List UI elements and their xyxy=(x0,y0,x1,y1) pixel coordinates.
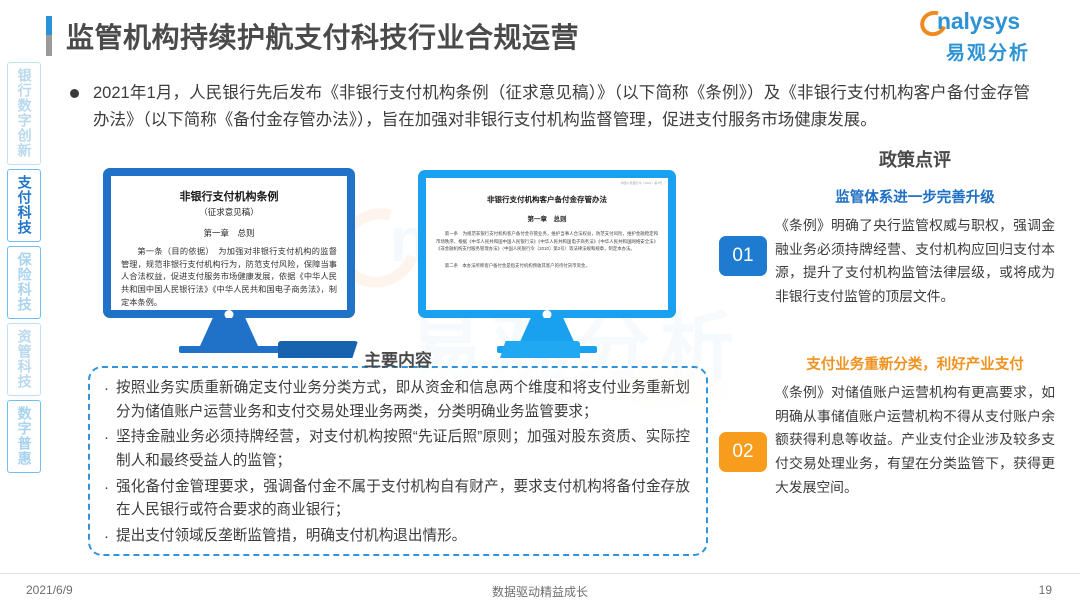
policy-block-body: 《条例》对储值账户运营机构有更高要求，如明确从事储值账户运营机构不得从支付账户余… xyxy=(775,381,1055,500)
title-accent-bar xyxy=(46,16,52,56)
monitor-regulation: 非银行支付机构条例 （征求意见稿） 第一章 总则 第一条（目的依据） 为加强对非… xyxy=(103,168,355,318)
status-badge-01: 01 xyxy=(719,236,767,276)
list-item: · 强化备付金管理要求，强调备付金不属于支付机构自有财产，要求支付机构将备付金存… xyxy=(104,476,690,523)
list-item-text: 提出支付领域反垄断监管措，明确支付机构退出情形。 xyxy=(116,525,466,549)
doc-chapter: 第一章 总则 xyxy=(436,213,658,223)
sidebar-item-digital-inclusive-finance[interactable]: 数字普惠 xyxy=(7,400,41,473)
doc-title: 非银行支付机构客户备付金存管办法 xyxy=(436,194,658,205)
doc-chapter: 第一章 总则 xyxy=(121,227,337,239)
sidebar-item-bank-digital-innovation[interactable]: 银行数字创新 xyxy=(7,62,41,165)
status-badge-02: 02 xyxy=(719,432,767,472)
page-footer: 2021/6/9 数据驱动精益成长 19 xyxy=(0,573,1080,608)
monitor-neck xyxy=(200,318,258,346)
main-content-heading-label: 主要内容 xyxy=(354,346,442,371)
doc-title: 非银行支付机构条例 xyxy=(121,188,337,204)
lead-paragraph: 2021年1月，人民银行先后发布《非银行支付机构条例（征求意见稿）》（以下简称《… xyxy=(70,80,1030,133)
policy-block-1: 监管体系进一步完善升级 《条例》明确了央行监管权威与职权，强调金融业务必须持牌经… xyxy=(775,186,1055,309)
page-header: 监管机构持续护航支付科技行业合规运营 xyxy=(46,16,579,56)
policy-panel-title: 政策点评 xyxy=(775,146,1055,172)
footer-page-number: 19 xyxy=(1039,583,1052,597)
doc-subtitle: （征求意见稿） xyxy=(121,206,337,218)
monitor-power-dot-icon xyxy=(225,310,234,319)
policy-block-2: 支付业务重新分类，利好产业支付 《条例》对储值账户运营机构有更高要求，如明确从事… xyxy=(775,353,1055,500)
analysys-logo: nalysys 易观分析 xyxy=(920,8,1044,62)
sidebar-item-label: 数字普惠 xyxy=(16,406,31,466)
category-sidebar[interactable]: 银行数字创新 支付科技 保险科技 资管科技 数字普惠 xyxy=(7,62,41,473)
heading-decor-bar-right xyxy=(500,341,580,358)
sidebar-item-label: 银行数字创新 xyxy=(16,68,31,158)
policy-block-heading: 支付业务重新分类，利好产业支付 xyxy=(775,353,1055,374)
policy-block-body: 《条例》明确了央行监管权威与职权，强调金融业务必须持牌经营、支付机构应回归支付本… xyxy=(775,214,1055,309)
monitor-bezel: 非银行支付机构条例 （征求意见稿） 第一章 总则 第一条（目的依据） 为加强对非… xyxy=(103,168,355,318)
footer-slogan: 数据驱动精益成长 xyxy=(0,583,1080,600)
sidebar-item-label: 保险科技 xyxy=(16,252,31,312)
heading-decor-bar-left xyxy=(278,341,358,358)
sidebar-item-payment-tech[interactable]: 支付科技 xyxy=(7,169,41,242)
monitor-screen-custody: 中国人民银行令〔2021〕第1号 非银行支付机构客户备付金存管办法 第一章 总则… xyxy=(426,178,668,310)
monitor-custody: 中国人民银行令〔2021〕第1号 非银行支付机构客户备付金存管办法 第一章 总则… xyxy=(418,170,676,318)
lead-paragraph-text: 2021年1月，人民银行先后发布《非银行支付机构条例（征求意见稿）》（以下简称《… xyxy=(93,80,1030,133)
logo-cn-text: 易观分析 xyxy=(946,38,1030,65)
list-item-text: 坚持金融业务必须持牌经营，对支付机构按照“先证后照”原则；加强对股东资质、实际控… xyxy=(116,426,690,473)
monitor-screen-regulation: 非银行支付机构条例 （征求意见稿） 第一章 总则 第一条（目的依据） 为加强对非… xyxy=(111,176,347,310)
bullet-small-dot-icon: · xyxy=(104,525,116,549)
bullet-small-dot-icon: · xyxy=(104,476,116,523)
list-item-text: 强化备付金管理要求，强调备付金不属于支付机构自有财产，要求支付机构将备付金存放在… xyxy=(116,476,690,523)
logo-en-text: nalysys xyxy=(937,8,1020,35)
bullet-small-dot-icon: · xyxy=(104,377,116,424)
main-content-heading: 主要内容 xyxy=(88,345,708,371)
sidebar-item-label: 资管科技 xyxy=(16,329,31,389)
sidebar-item-label: 支付科技 xyxy=(16,175,31,235)
sidebar-item-asset-management-tech[interactable]: 资管科技 xyxy=(7,323,41,396)
list-item: · 坚持金融业务必须持牌经营，对支付机构按照“先证后照”原则；加强对股东资质、实… xyxy=(104,426,690,473)
doc-body: 第一条（目的依据） 为加强对非银行支付机构的监督管理，规范非银行支付机构行为，防… xyxy=(121,246,337,310)
bullet-dot-icon xyxy=(70,89,79,98)
monitor-bezel: 中国人民银行令〔2021〕第1号 非银行支付机构客户备付金存管办法 第一章 总则… xyxy=(418,170,676,318)
policy-block-heading: 监管体系进一步完善升级 xyxy=(775,186,1055,207)
bullet-small-dot-icon: · xyxy=(104,426,116,473)
policy-commentary-panel: 政策点评 监管体系进一步完善升级 《条例》明确了央行监管权威与职权，强调金融业务… xyxy=(775,146,1055,499)
list-item: · 按照业务实质重新确定支付业务分类方式，即从资金和信息两个维度和将支付业务重新… xyxy=(104,377,690,424)
page-title: 监管机构持续护航支付科技行业合规运营 xyxy=(66,16,579,56)
main-content-box: · 按照业务实质重新确定支付业务分类方式，即从资金和信息两个维度和将支付业务重新… xyxy=(88,366,708,556)
sidebar-item-insurance-tech[interactable]: 保险科技 xyxy=(7,246,41,319)
monitor-power-dot-icon xyxy=(543,310,552,319)
doc-body-second: 第二条 本办法所称客户备付金是指支付机构预收其客户的待付货币资金。 xyxy=(436,262,658,270)
doc-stamp: 中国人民银行令〔2021〕第1号 xyxy=(621,181,662,185)
doc-body: 第一条 为规范非银行支付机构客户备付金存管业务，维护当事人合法权益，防范支付风险… xyxy=(436,230,658,253)
slide-root: nalysys 易观分析 监管机构持续护航支付科技行业合规运营 nalysys … xyxy=(0,0,1080,608)
list-item-text: 按照业务实质重新确定支付业务分类方式，即从资金和信息两个维度和将支付业务重新划分… xyxy=(116,377,690,424)
list-item: · 提出支付领域反垄断监管措，明确支付机构退出情形。 xyxy=(104,525,690,549)
